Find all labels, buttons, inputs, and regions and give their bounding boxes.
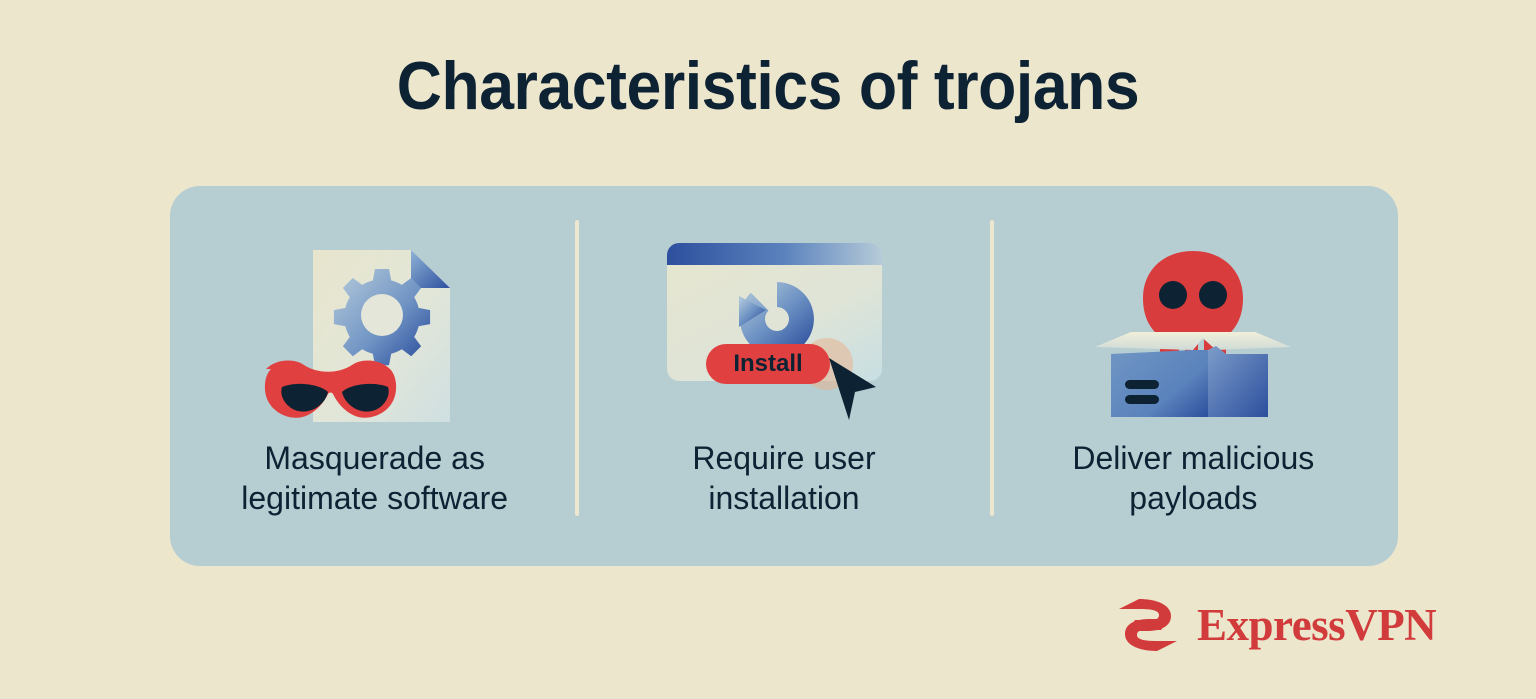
icon-container-installation: Install [579, 222, 988, 422]
column-payloads: Deliver malicious payloads [989, 186, 1398, 566]
expressvpn-logo[interactable]: ExpressVPN [1113, 596, 1436, 654]
column-masquerade: Masquerade as legitimate software [170, 186, 579, 566]
icon-container-masquerade [170, 222, 579, 422]
gear-icon [334, 269, 430, 365]
columns-container: Masquerade as legitimate software [170, 186, 1398, 566]
caption-payloads: Deliver malicious payloads [1072, 438, 1314, 519]
box-label-line-2 [1125, 395, 1159, 404]
skull-eye-right [1199, 281, 1227, 309]
caption-masquerade: Masquerade as legitimate software [241, 438, 508, 519]
caption-installation: Require user installation [692, 438, 875, 519]
characteristics-panel: Masquerade as legitimate software [170, 186, 1398, 566]
icon-container-payloads [989, 222, 1398, 422]
page-title: Characteristics of trojans [61, 52, 1474, 120]
browser-install-button-icon: Install [664, 237, 904, 422]
document-gear-mask-icon [260, 237, 490, 422]
column-installation: Install Require user installation [579, 186, 988, 566]
install-button[interactable]: Install [706, 344, 830, 384]
expressvpn-wordmark: ExpressVPN [1197, 603, 1436, 648]
install-button-label: Install [733, 350, 802, 377]
box-flap-left [1095, 332, 1208, 350]
skull-in-open-box-icon [1093, 237, 1293, 422]
box-label-line-1 [1125, 380, 1159, 389]
skull-eye-left [1159, 281, 1187, 309]
expressvpn-e-mark-icon [1113, 596, 1183, 654]
box-side [1208, 346, 1268, 417]
